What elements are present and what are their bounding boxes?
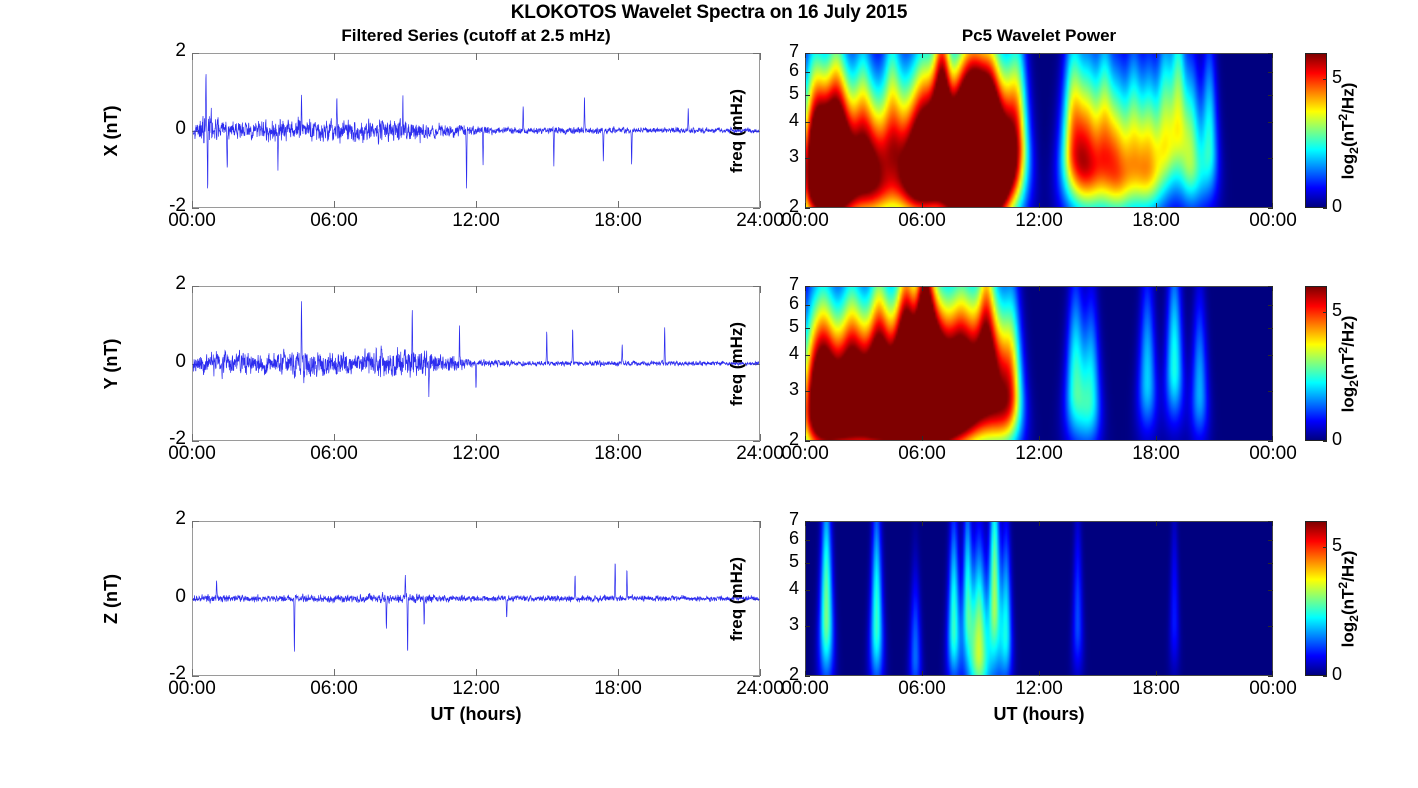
xtick-mark [922, 286, 923, 291]
ytick-mark [753, 208, 760, 209]
xtick-label: 18:00 [573, 210, 663, 232]
xtick-mark [1156, 286, 1157, 291]
xtick-mark [760, 434, 761, 441]
freq-axis-label: freq (mHz) [727, 88, 747, 172]
xtick-label: 12:00 [431, 210, 521, 232]
freq-ytick-label: 3 [773, 379, 799, 400]
xtick-label: 06:00 [877, 678, 967, 700]
xtick-mark [1039, 53, 1040, 58]
ytick-label: 0 [146, 351, 186, 373]
xtick-mark [1272, 671, 1273, 676]
xtick-mark [1272, 53, 1273, 58]
xtick-label: 06:00 [877, 443, 967, 465]
xtick-label: 06:00 [289, 678, 379, 700]
freq-ytick-label: 5 [773, 83, 799, 104]
xtick-label: 18:00 [573, 678, 663, 700]
xtick-label: 00:00 [760, 210, 850, 232]
colorbar-tick-label: 0 [1332, 429, 1342, 450]
xtick-label: 18:00 [1111, 210, 1201, 232]
timeseries-trace [193, 287, 759, 440]
xtick-label: 12:00 [431, 678, 521, 700]
spectrogram-y [805, 286, 1273, 441]
xtick-mark [805, 203, 806, 208]
ytick-mark [1268, 328, 1273, 329]
xtick-mark [922, 671, 923, 676]
ytick-mark [1268, 122, 1273, 123]
ytick-mark [1268, 208, 1273, 209]
xtick-mark [1156, 671, 1157, 676]
ytick-mark [753, 676, 760, 677]
timeseries-trace [193, 54, 759, 207]
xtick-mark [805, 521, 806, 526]
xtick-label: 00:00 [1228, 210, 1318, 232]
right-column-title: Pc5 Wavelet Power [805, 26, 1273, 46]
ytick-mark [1268, 441, 1273, 442]
ytick-mark [1268, 95, 1273, 96]
colorbar-tick-mark [1323, 441, 1327, 442]
timeseries-trace [193, 522, 759, 675]
xtick-label: 18:00 [1111, 443, 1201, 465]
ytick-mark [192, 676, 199, 677]
ytick-mark [805, 626, 810, 627]
xtick-mark [922, 203, 923, 208]
figure-canvas: KLOKOTOS Wavelet Spectra on 16 July 2015… [0, 0, 1418, 788]
ytick-mark [1268, 158, 1273, 159]
xtick-label: 18:00 [573, 443, 663, 465]
freq-ytick-label: 5 [773, 316, 799, 337]
colorbar-tick-mark [1323, 676, 1327, 677]
xtick-mark [760, 286, 761, 293]
freq-axis-label: freq (mHz) [727, 556, 747, 640]
xtick-label: 06:00 [877, 210, 967, 232]
colorbar-label: log2(nT2/Hz) [1336, 315, 1361, 412]
xtick-mark [1039, 521, 1040, 526]
xtick-mark [760, 53, 761, 60]
ytick-mark [1268, 540, 1273, 541]
ytick-mark [805, 441, 810, 442]
xtick-label: 12:00 [431, 443, 521, 465]
colorbar-label: log2(nT2/Hz) [1336, 550, 1361, 647]
ytick-mark [805, 540, 810, 541]
colorbar-tick-mark [1323, 312, 1327, 313]
freq-ytick-label: 3 [773, 146, 799, 167]
ytick-mark [1268, 676, 1273, 677]
freq-ytick-label: 4 [773, 578, 799, 599]
xtick-mark [1039, 203, 1040, 208]
xtick-mark [760, 669, 761, 676]
ytick-mark [753, 441, 760, 442]
ytick-mark [805, 328, 810, 329]
axis-ylabel: Y (nT) [101, 338, 122, 389]
xtick-label: 00:00 [1228, 443, 1318, 465]
ytick-mark [805, 158, 810, 159]
freq-ytick-label: 6 [773, 60, 799, 81]
ytick-label: 2 [146, 273, 186, 295]
ytick-label: 2 [146, 40, 186, 62]
colorbar [1305, 521, 1327, 676]
ytick-mark [805, 563, 810, 564]
spectrogram-z [805, 521, 1273, 676]
colorbar-tick-mark [1323, 79, 1327, 80]
colorbar-tick-mark [1323, 208, 1327, 209]
ytick-mark [805, 305, 810, 306]
ytick-label: 0 [146, 118, 186, 140]
ytick-mark [1268, 305, 1273, 306]
freq-ytick-label: 4 [773, 343, 799, 364]
ytick-mark [1268, 590, 1273, 591]
ytick-mark [1268, 391, 1273, 392]
xtick-mark [1039, 671, 1040, 676]
ytick-mark [805, 676, 810, 677]
freq-ytick-label: 4 [773, 110, 799, 131]
spectrogram-image [806, 522, 1272, 675]
ytick-mark [1268, 355, 1273, 356]
left-xaxis-label: UT (hours) [192, 704, 760, 725]
xtick-label: 00:00 [147, 210, 237, 232]
spectrogram-x [805, 53, 1273, 208]
xtick-label: 06:00 [289, 443, 379, 465]
xtick-mark [805, 671, 806, 676]
xtick-label: 12:00 [994, 443, 1084, 465]
spectrogram-image [806, 287, 1272, 440]
ytick-label: 0 [146, 586, 186, 608]
xtick-mark [1156, 53, 1157, 58]
ytick-mark [1268, 626, 1273, 627]
left-column-title: Filtered Series (cutoff at 2.5 mHz) [192, 26, 760, 46]
xtick-mark [1156, 521, 1157, 526]
ytick-mark [805, 95, 810, 96]
ytick-mark [192, 441, 199, 442]
colorbar-tick-mark [1323, 547, 1327, 548]
spectrogram-image [806, 54, 1272, 207]
xtick-mark [760, 521, 761, 528]
colorbar-tick-label: 0 [1332, 196, 1342, 217]
ytick-mark [805, 355, 810, 356]
figure-title: KLOKOTOS Wavelet Spectra on 16 July 2015 [0, 2, 1418, 24]
colorbar-tick-label: 0 [1332, 664, 1342, 685]
ytick-label: 2 [146, 508, 186, 530]
xtick-mark [1272, 286, 1273, 291]
axis-ylabel: X (nT) [101, 105, 122, 156]
ytick-mark [805, 122, 810, 123]
xtick-label: 00:00 [147, 443, 237, 465]
ytick-mark [805, 72, 810, 73]
xtick-mark [1156, 203, 1157, 208]
freq-ytick-label: 7 [773, 41, 799, 62]
colorbar [1305, 53, 1327, 208]
freq-axis-label: freq (mHz) [727, 321, 747, 405]
xtick-mark [805, 436, 806, 441]
ytick-mark [192, 208, 199, 209]
xtick-label: 06:00 [289, 210, 379, 232]
xtick-mark [805, 53, 806, 58]
xtick-label: 00:00 [760, 443, 850, 465]
xtick-label: 00:00 [1228, 678, 1318, 700]
xtick-mark [1039, 436, 1040, 441]
colorbar-label: log2(nT2/Hz) [1336, 82, 1361, 179]
axis-ylabel: Z (nT) [101, 574, 122, 624]
xtick-mark [805, 286, 806, 291]
freq-ytick-label: 6 [773, 528, 799, 549]
right-xaxis-label: UT (hours) [805, 704, 1273, 725]
ytick-mark [805, 208, 810, 209]
xtick-label: 00:00 [147, 678, 237, 700]
xtick-mark [922, 53, 923, 58]
xtick-label: 18:00 [1111, 678, 1201, 700]
xtick-mark [1039, 286, 1040, 291]
xtick-mark [1272, 436, 1273, 441]
freq-ytick-label: 5 [773, 551, 799, 572]
ytick-mark [805, 391, 810, 392]
freq-ytick-label: 7 [773, 509, 799, 530]
freq-ytick-label: 7 [773, 274, 799, 295]
xtick-label: 00:00 [760, 678, 850, 700]
ytick-mark [1268, 563, 1273, 564]
freq-ytick-label: 6 [773, 293, 799, 314]
xtick-mark [760, 201, 761, 208]
xtick-mark [922, 521, 923, 526]
ytick-mark [805, 590, 810, 591]
xtick-mark [1272, 203, 1273, 208]
xtick-mark [1272, 521, 1273, 526]
xtick-label: 12:00 [994, 678, 1084, 700]
xtick-label: 12:00 [994, 210, 1084, 232]
xtick-mark [922, 436, 923, 441]
colorbar [1305, 286, 1327, 441]
xtick-mark [1156, 436, 1157, 441]
ytick-mark [1268, 72, 1273, 73]
freq-ytick-label: 3 [773, 614, 799, 635]
